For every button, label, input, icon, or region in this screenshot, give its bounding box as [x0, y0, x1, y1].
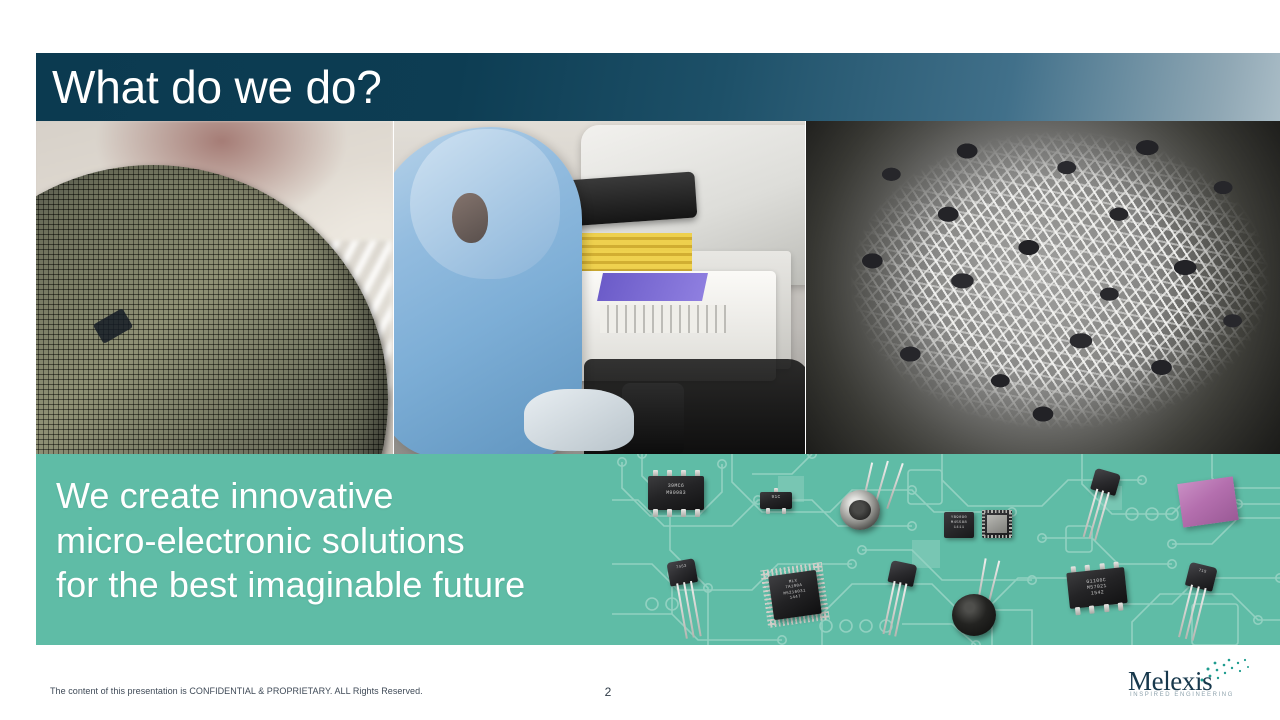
component-sot-23: 91C: [760, 492, 792, 509]
component-collage: 39MC6 M90983 91C: [612, 454, 1280, 645]
component-soic-8-top-left: 39MC6 M90983: [648, 476, 704, 510]
component-marking: 39MC6 M90983: [648, 483, 704, 496]
gloved-hand: [524, 389, 634, 451]
component-marking: MLX 7A190A M5216031 1447: [769, 577, 819, 604]
photo-transistor-bowl: [805, 121, 1280, 454]
tagline-line-2: micro-electronic solutions: [56, 519, 596, 564]
component-qfn-pad-package: [982, 510, 1012, 538]
wafer-notch-icon: [93, 308, 133, 344]
component-to-92-lower-mid: [873, 559, 922, 638]
component-to-can-metal: [840, 464, 910, 530]
component-marking: YB9090 M45588 1411: [944, 516, 974, 531]
melexis-logo: Melexis INSPIRED ENGINEERING: [1128, 658, 1248, 704]
component-to-92-lower-left: 7453: [662, 557, 713, 640]
photo-strip: [36, 121, 1280, 454]
tagline-text: We create innovative micro-electronic so…: [56, 474, 596, 608]
component-to-92-lower-far-right: 715: [1167, 561, 1222, 644]
transistor-bodies: [806, 121, 1280, 454]
component-marking: G1108C M57021 1542: [1067, 575, 1127, 600]
slide-title-bar: What do we do?: [36, 53, 1280, 121]
component-marking: 7453: [667, 563, 695, 573]
panel-keypad: [600, 305, 726, 333]
component-qfn-package: YB9090 M45588 1411: [944, 512, 974, 538]
tagline-line-3: for the best imaginable future: [56, 563, 596, 608]
component-qfp-package: MLX 7A190A M5216031 1447: [760, 562, 829, 628]
tagline-band: We create innovative micro-electronic so…: [36, 454, 1280, 645]
tagline-line-1: We create innovative: [56, 474, 596, 519]
page-title: What do we do?: [36, 64, 382, 110]
presentation-slide: What do we do?: [0, 0, 1280, 720]
panel-screen: [597, 273, 708, 301]
component-marking: 91C: [760, 495, 792, 501]
component-soic-8-lower-right: G1108C M57021 1542: [1066, 567, 1127, 609]
component-to-can-black: [948, 558, 1014, 636]
photo-cleanroom-operator: [393, 121, 804, 454]
photo-silicon-wafer: [36, 121, 393, 454]
component-marking: 715: [1188, 566, 1216, 578]
logo-tagline: INSPIRED ENGINEERING: [1130, 692, 1234, 698]
page-number: 2: [0, 685, 1216, 699]
component-to-92-upper-right: [1073, 467, 1125, 544]
component-silicon-die-purple: [1177, 476, 1239, 527]
face-visor: [452, 193, 488, 243]
